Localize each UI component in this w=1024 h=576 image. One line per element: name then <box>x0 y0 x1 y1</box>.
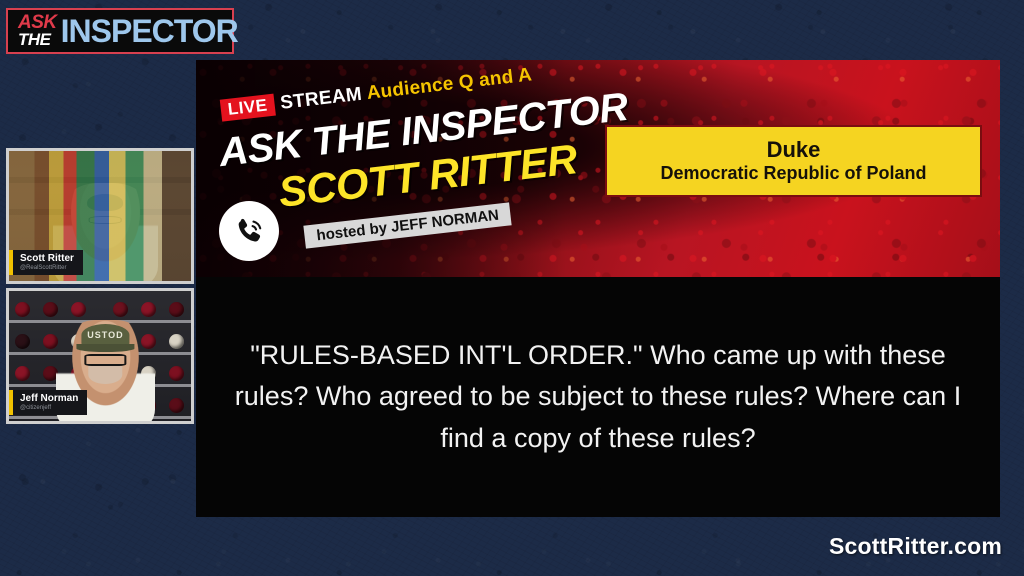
caller-info-card: Duke Democratic Republic of Poland <box>605 125 982 197</box>
broadcast-stage: ASK THE INSPECTOR Scott Ritter @RealScot… <box>0 0 1024 576</box>
logo-the-text: THE <box>18 32 57 48</box>
eyeglasses-shape <box>89 216 122 223</box>
lower-third-overlay: LIVE STREAM Audience Q and A ASK THE INS… <box>196 60 1000 517</box>
beard-shape <box>89 366 122 385</box>
nameplate-name: Jeff Norman <box>20 393 78 405</box>
nameplate-handle: @RealScottRitter <box>20 265 74 272</box>
caller-name: Duke <box>767 138 821 162</box>
question-text: "RULES-BASED INT'L ORDER." Who came up w… <box>230 335 966 458</box>
logo-inspector-text: INSPECTOR <box>61 13 238 50</box>
show-logo: ASK THE INSPECTOR <box>6 8 234 54</box>
website-brand: ScottRitter.com <box>829 533 1002 560</box>
webcam-tile-scott-ritter[interactable]: Scott Ritter @RealScottRitter <box>6 148 194 284</box>
nameplate-handle: @citizenjeff <box>20 405 78 412</box>
webcam-tile-jeff-norman[interactable]: USTOD Jeff Norman @citizenjeff <box>6 288 194 424</box>
logo-ask-the-group: ASK THE <box>18 14 57 47</box>
nameplate-name: Scott Ritter <box>20 253 74 265</box>
nameplate-jeff-norman: Jeff Norman @citizenjeff <box>9 390 87 415</box>
nameplate-scott-ritter: Scott Ritter @RealScottRitter <box>9 250 83 275</box>
question-panel: "RULES-BASED INT'L ORDER." Who came up w… <box>196 277 1000 517</box>
hair-shape <box>88 194 124 211</box>
cap-logo-text: USTOD <box>87 330 123 340</box>
title-banner: LIVE STREAM Audience Q and A ASK THE INS… <box>196 60 1000 277</box>
eyeglasses-shape <box>85 354 126 366</box>
baseball-cap-shape: USTOD <box>82 324 129 346</box>
caller-location: Democratic Republic of Poland <box>660 162 926 185</box>
phone-call-icon <box>219 201 279 261</box>
